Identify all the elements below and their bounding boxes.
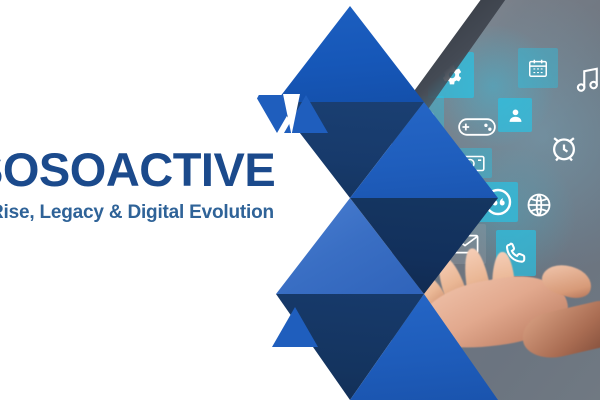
- globe-icon: [522, 188, 556, 222]
- promotional-banner: SOSOACTIVE Rise, Legacy & Digital Evolut…: [0, 0, 600, 400]
- panel-wedge-top: [240, 0, 310, 130]
- page-subtitle: Rise, Legacy & Digital Evolution: [0, 203, 274, 222]
- alarm-clock-icon: [544, 128, 584, 168]
- gamepad-icon: [454, 112, 500, 142]
- text-panel-background: [0, 0, 252, 400]
- calendar-icon: [518, 48, 558, 88]
- music-note-icon: [568, 58, 600, 102]
- text-panel: SOSOACTIVE Rise, Legacy & Digital Evolut…: [0, 0, 300, 400]
- user-icon: [498, 98, 532, 132]
- page-title: SOSOACTIVE: [0, 146, 275, 193]
